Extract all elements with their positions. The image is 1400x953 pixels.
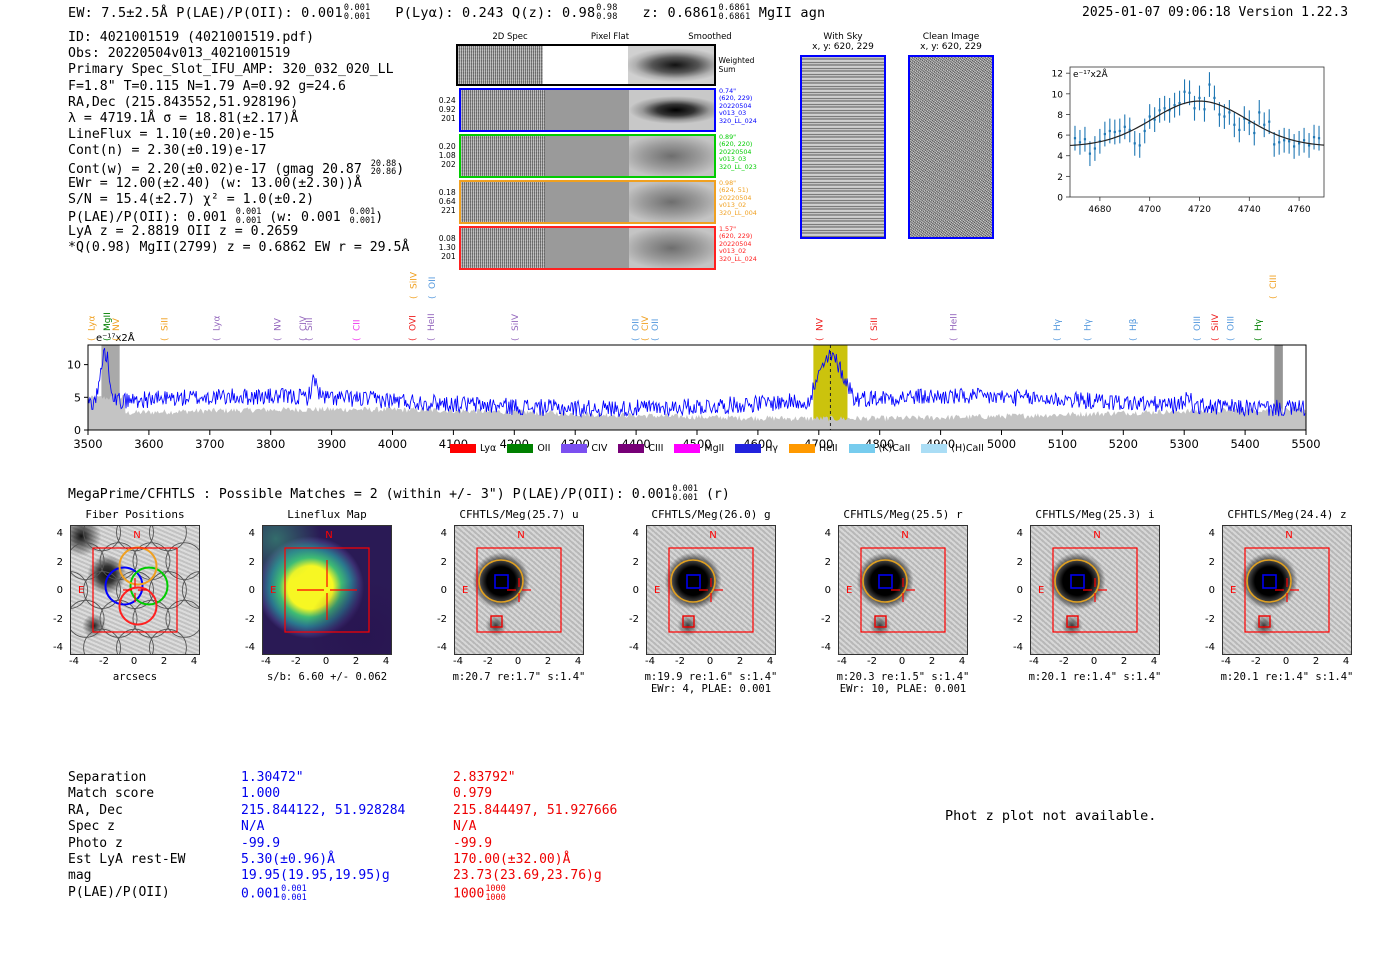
twod-row-left-value: 1.08 xyxy=(430,151,456,160)
svg-text:3800: 3800 xyxy=(256,437,285,451)
legend-swatch xyxy=(618,444,644,453)
twod-cell-smoothed xyxy=(629,90,713,130)
match-table-row: Est LyA rest-EW5.30(±0.96)Å170.00(±32.00… xyxy=(68,852,617,868)
cutout-x-tick: -2 xyxy=(1059,656,1069,667)
twod-row-right-value: 320_LL_024 xyxy=(719,256,760,263)
svg-text:(: ( xyxy=(1269,295,1279,299)
twod-col-header-pixelflat: Pixel Flat xyxy=(560,32,660,42)
marker-overlay: NE xyxy=(455,526,583,654)
svg-text:E: E xyxy=(270,585,276,596)
cutout-title: Lineflux Map xyxy=(232,508,422,521)
cutout-image[interactable]: NE xyxy=(646,525,776,655)
cutout-y-axis: 420-2-4 xyxy=(424,527,451,655)
cutout-y-tick: 2 xyxy=(633,557,639,568)
cutout-y-tick: 2 xyxy=(1017,557,1023,568)
svg-text:E: E xyxy=(1230,585,1236,596)
svg-text:N: N xyxy=(1093,530,1100,541)
svg-text:N: N xyxy=(133,530,140,541)
cutout-y-tick: -2 xyxy=(53,614,63,625)
svg-text:N: N xyxy=(901,530,908,541)
svg-text:OII: OII xyxy=(428,277,438,289)
info-line-fwhm: F=1.8" T=0.115 N=1.79 A=0.92 g=24.6 xyxy=(68,79,409,95)
emission-label: CIV( xyxy=(299,315,309,341)
legend-label: CIII xyxy=(648,443,663,454)
svg-text:3600: 3600 xyxy=(134,437,163,451)
header-qz-fraction: 0.980.98 xyxy=(596,4,617,22)
svg-text:12: 12 xyxy=(1052,70,1063,80)
svg-text:(: ( xyxy=(870,337,880,341)
cutout-y-axis: 420-2-4 xyxy=(808,527,835,655)
legend-item: Lyα xyxy=(450,443,496,454)
svg-text:E: E xyxy=(846,585,852,596)
emission-label: OVI( xyxy=(408,315,418,341)
cutout-x-axis: -4-2024 xyxy=(838,655,966,669)
match-row-red-value: 2.83792" xyxy=(453,770,516,786)
svg-text:HeII: HeII xyxy=(427,313,437,331)
twod-row-images xyxy=(459,180,716,224)
info-line-lambda: λ = 4719.1Å σ = 18.81(±2.17)Å xyxy=(68,111,409,127)
cutout-caption-primary: m:20.7 re:1.7" s:1.4" xyxy=(424,671,614,683)
twod-row-right-labels: 0.98"(624, 51)20220504v013_02320_LL_004 xyxy=(716,180,760,224)
cutout-x-tick: -2 xyxy=(99,656,109,667)
svg-text:(: ( xyxy=(1226,337,1236,341)
gmag-fraction: 20.8820.86 xyxy=(371,160,397,178)
info-line-cont-n: Cont(n) = 2.30(±0.19)e-17 xyxy=(68,143,409,159)
cutout-x-tick: 0 xyxy=(1283,656,1289,667)
cutout-panel: CFHTLS/Meg(25.5) rNE420-2-4-4-2024m:20.3… xyxy=(808,508,998,695)
legend-label: (K)CaII xyxy=(879,443,911,454)
svg-text:(: ( xyxy=(1083,337,1093,341)
svg-text:(: ( xyxy=(299,337,309,341)
twod-row: 0.240.922010.74"(620, 229)20220504v013_0… xyxy=(430,88,760,132)
svg-text:OIII: OIII xyxy=(1193,316,1203,331)
cutout-y-tick: 0 xyxy=(57,585,63,596)
cutout-y-tick: 4 xyxy=(249,528,255,539)
cutout-panel: Fiber PositionsNE420-2-4-4-2024arcsecs xyxy=(40,508,230,683)
svg-text:OVI: OVI xyxy=(408,315,418,331)
emission-label: Hγ( xyxy=(1053,318,1063,341)
svg-text:(: ( xyxy=(112,337,122,341)
marker-overlay: NE xyxy=(839,526,967,654)
cutout-panel: CFHTLS/Meg(26.0) gNE420-2-4-4-2024m:19.9… xyxy=(616,508,806,695)
cutout-x-tick: 4 xyxy=(575,656,581,667)
cutout-x-tick: 0 xyxy=(323,656,329,667)
match-row-blue-value: 1.000 xyxy=(241,786,453,802)
cutout-x-tick: 0 xyxy=(899,656,905,667)
svg-text:5500: 5500 xyxy=(1291,437,1320,451)
clean-image-title: Clean Image xyxy=(908,32,994,42)
emission-label: SiII( xyxy=(870,317,880,341)
legend-label: Lyα xyxy=(480,443,496,454)
cutout-y-axis: 420-2-4 xyxy=(1192,527,1219,655)
emission-label: CIII( xyxy=(1269,275,1279,299)
cutout-x-tick: -4 xyxy=(837,656,847,667)
svg-text:(: ( xyxy=(1129,337,1139,341)
cutout-image[interactable]: NE xyxy=(262,525,392,655)
cutout-y-tick: -2 xyxy=(437,614,447,625)
match-row-label: Spec z xyxy=(68,819,241,835)
svg-text:(: ( xyxy=(427,337,437,341)
svg-text:5400: 5400 xyxy=(1230,437,1259,451)
emission-label: OIII( xyxy=(1193,316,1203,341)
svg-text:5200: 5200 xyxy=(1109,437,1138,451)
match-row-label: Photo z xyxy=(68,836,241,852)
legend-item: Hγ xyxy=(735,443,778,454)
match-row-red-value: 23.73(23.69,23.76)g xyxy=(453,868,602,884)
match-row-label: Est LyA rest-EW xyxy=(68,852,241,868)
cutout-y-tick: 2 xyxy=(57,557,63,568)
match-table-row: Separation1.30472"2.83792" xyxy=(68,770,617,786)
legend-label: Hγ xyxy=(765,443,778,454)
cutout-y-tick: -2 xyxy=(1205,614,1215,625)
cutout-x-tick: -4 xyxy=(1221,656,1231,667)
legend-item: OII xyxy=(507,443,550,454)
cutout-x-tick: 2 xyxy=(929,656,935,667)
emission-label: SiIV( xyxy=(1211,313,1221,341)
twod-row-left-value: 0.18 xyxy=(430,188,456,197)
legend-item: CIV xyxy=(561,443,607,454)
emission-label: NV( xyxy=(273,317,283,341)
legend-label: MgII xyxy=(704,443,724,454)
cutout-caption-primary: m:20.1 re:1.4" s:1.4" xyxy=(1000,671,1190,683)
twod-cell-smoothed xyxy=(629,136,713,176)
cutout-image[interactable]: NE xyxy=(1222,525,1352,655)
svg-text:4760: 4760 xyxy=(1288,205,1311,215)
twod-row-left-value: 0.20 xyxy=(430,142,456,151)
match-row-red-value: 100010001000 xyxy=(453,885,506,901)
cutout-title: Fiber Positions xyxy=(40,508,230,521)
twod-col-header-smoothed: Smoothed xyxy=(660,32,760,42)
cutout-x-tick: 2 xyxy=(161,656,167,667)
svg-text:4680: 4680 xyxy=(1088,205,1111,215)
cutout-x-tick: 0 xyxy=(515,656,521,667)
svg-text:(: ( xyxy=(428,295,438,299)
svg-text:Lyα: Lyα xyxy=(212,315,222,331)
cutout-image[interactable]: NE xyxy=(454,525,584,655)
svg-text:N: N xyxy=(517,530,524,541)
cutout-title: CFHTLS/Meg(25.5) r xyxy=(808,508,998,521)
legend-swatch xyxy=(921,444,947,453)
twod-row: 0.081.302011.57"(620, 229)20220504v013_0… xyxy=(430,226,760,270)
twod-cell-smoothed xyxy=(628,46,713,84)
cutout-title: CFHTLS/Meg(25.7) u xyxy=(424,508,614,521)
cutout-y-tick: 4 xyxy=(825,528,831,539)
cutout-x-tick: 2 xyxy=(737,656,743,667)
sky-cutouts: With Sky x, y: 620, 229 Clean Image x, y… xyxy=(800,32,994,239)
match-row-red-value: 0.979 xyxy=(453,786,492,802)
svg-text:CIV: CIV xyxy=(641,315,651,331)
cutout-title: CFHTLS/Meg(26.0) g xyxy=(616,508,806,521)
legend-swatch xyxy=(674,444,700,453)
twod-row-left-value: 0.24 xyxy=(430,96,456,105)
svg-text:6: 6 xyxy=(1057,132,1063,142)
legend-item: HeII xyxy=(789,443,838,454)
emission-label: NV( xyxy=(815,317,825,341)
weighted-sum-label: WeightedSum xyxy=(716,44,760,86)
svg-text:E: E xyxy=(462,585,468,596)
svg-text:CIII: CIII xyxy=(1269,275,1279,289)
cutout-y-axis: 420-2-4 xyxy=(616,527,643,655)
svg-text:3900: 3900 xyxy=(317,437,346,451)
info-line-redshifts: LyA z = 2.8819 OII z = 0.2659 xyxy=(68,224,409,240)
svg-text:5100: 5100 xyxy=(1048,437,1077,451)
emission-label: SiII( xyxy=(161,317,171,341)
twod-row-right-value: 320_LL_023 xyxy=(719,164,760,171)
match-row-red-value: 170.00(±32.00)Å xyxy=(453,852,570,868)
twod-cell-2dspec xyxy=(458,46,543,84)
cutout-y-tick: -4 xyxy=(821,642,831,653)
twod-row-list: 0.240.922010.74"(620, 229)20220504v013_0… xyxy=(430,88,760,270)
svg-text:SiII: SiII xyxy=(870,317,880,331)
match-red-plae-fraction: 10001000 xyxy=(485,885,505,903)
info-line-plae: P(LAE)/P(OII): 0.001 0.0010.001 (w: 0.00… xyxy=(68,208,409,224)
svg-text:(: ( xyxy=(631,337,641,341)
header-z-fraction: 0.68610.6861 xyxy=(719,4,751,22)
svg-text:8: 8 xyxy=(1057,111,1063,121)
svg-text:4000: 4000 xyxy=(378,437,407,451)
cutout-x-axis: -4-2024 xyxy=(70,655,198,669)
cutout-x-axis: -4-2024 xyxy=(454,655,582,669)
cutout-title: CFHTLS/Meg(24.4) z xyxy=(1192,508,1382,521)
cutout-x-tick: 2 xyxy=(545,656,551,667)
twod-row-images xyxy=(459,226,716,270)
match-row-label: Separation xyxy=(68,770,241,786)
twod-row-right-value: 320_LL_004 xyxy=(719,210,760,217)
svg-text:SiIV: SiIV xyxy=(511,313,521,331)
svg-text:10: 10 xyxy=(67,359,81,372)
cutout-x-tick: 4 xyxy=(383,656,389,667)
cutout-caption-primary: m:19.9 re:1.6" s:1.4" xyxy=(616,671,806,683)
match-table-row: mag19.95(19.95,19.95)g23.73(23.69,23.76)… xyxy=(68,868,617,884)
svg-text:SiIV: SiIV xyxy=(410,271,420,289)
match-row-blue-value: 1.30472" xyxy=(241,770,453,786)
match-row-label: Match score xyxy=(68,786,241,802)
twod-cell-2dspec xyxy=(461,182,545,222)
detection-info-block: ID: 4021001519 (4021001519.pdf) Obs: 202… xyxy=(68,30,409,257)
twod-col-header-2dspec: 2D Spec xyxy=(460,32,560,42)
cutout-y-tick: 4 xyxy=(441,528,447,539)
cutout-y-axis: 420-2-4 xyxy=(232,527,259,655)
cutout-y-tick: 0 xyxy=(633,585,639,596)
twod-row-weighted-sum xyxy=(456,44,716,86)
svg-text:(: ( xyxy=(1053,337,1063,341)
svg-text:E: E xyxy=(1038,585,1044,596)
svg-text:NV: NV xyxy=(273,317,283,331)
cutout-image[interactable]: NE xyxy=(838,525,968,655)
cutout-image[interactable]: NE xyxy=(1030,525,1160,655)
cutout-x-tick: -4 xyxy=(1029,656,1039,667)
with-sky-image xyxy=(800,55,886,239)
svg-text:E: E xyxy=(78,585,84,596)
cutout-x-tick: -4 xyxy=(645,656,655,667)
svg-text:(: ( xyxy=(410,295,420,299)
svg-text:5000: 5000 xyxy=(987,437,1016,451)
svg-text:NV: NV xyxy=(815,317,825,331)
cutout-x-tick: 4 xyxy=(959,656,965,667)
cutout-caption-primary: m:20.1 re:1.4" s:1.4" xyxy=(1192,671,1382,683)
cutout-y-tick: 4 xyxy=(1209,528,1215,539)
info-line-cont-w: Cont(w) = 2.20(±0.02)e-17 (gmag 20.87 20… xyxy=(68,160,409,176)
svg-text:(: ( xyxy=(1254,337,1264,341)
megaprime-plae-fraction: 0.0010.001 xyxy=(672,485,698,503)
legend-swatch xyxy=(507,444,533,453)
header-ew-plae: EW: 7.5±2.5Å P(LAE)/P(OII): 0.001 xyxy=(68,5,343,21)
line-profile-svg: 02468101246804700472047404760e⁻¹⁷x2Å xyxy=(1032,57,1332,232)
svg-text:5300: 5300 xyxy=(1170,437,1199,451)
clean-image-subtitle: x, y: 620, 229 xyxy=(908,42,994,52)
cutout-y-tick: 2 xyxy=(249,557,255,568)
cutout-caption-secondary: EWr: 4, PLAE: 0.001 xyxy=(616,683,806,695)
twod-cell-2dspec xyxy=(461,90,545,130)
header-timestamp-version: 2025-01-07 09:06:18 Version 1.22.3 xyxy=(1082,5,1348,20)
twod-cell-2dspec xyxy=(461,136,545,176)
legend-swatch xyxy=(789,444,815,453)
legend-swatch xyxy=(849,444,875,453)
legend-swatch xyxy=(735,444,761,453)
with-sky-subtitle: x, y: 620, 229 xyxy=(800,42,886,52)
twod-row: 0.180.642210.98"(624, 51)20220504v013_02… xyxy=(430,180,760,224)
svg-text:Hβ: Hβ xyxy=(1129,318,1139,331)
svg-text:OII: OII xyxy=(651,319,661,331)
cutout-y-tick: 0 xyxy=(1209,585,1215,596)
emission-label: OII( xyxy=(428,277,438,299)
twod-row-left-labels: 0.180.64221 xyxy=(430,180,459,224)
info-line-radec: RA,Dec (215.843552,51.928196) xyxy=(68,95,409,111)
svg-text:(: ( xyxy=(212,337,222,341)
emission-label: HeII( xyxy=(427,313,437,341)
svg-text:(: ( xyxy=(949,337,959,341)
info-line-ewr: EWr = 12.00(±2.40) (w: 13.00(±2.30))Å xyxy=(68,176,409,192)
match-row-red-value: 215.844497, 51.927666 xyxy=(453,803,617,819)
cutout-y-tick: -4 xyxy=(629,642,639,653)
svg-text:NV: NV xyxy=(112,317,122,331)
megaprime-match-summary: MegaPrime/CFHTLS : Possible Matches = 2 … xyxy=(68,485,730,503)
twod-row-right-labels: 0.74"(620, 229)20220504v013_03320_LL_024 xyxy=(716,88,760,132)
legend-label: (H)CaII xyxy=(951,443,984,454)
svg-text:3500: 3500 xyxy=(73,437,102,451)
cutout-y-tick: -4 xyxy=(437,642,447,653)
cutout-y-tick: -4 xyxy=(1205,642,1215,653)
twod-spec-panel: 2D Spec Pixel Flat Smoothed WeightedSum … xyxy=(430,32,760,270)
cutout-y-tick: 4 xyxy=(57,528,63,539)
svg-text:(: ( xyxy=(161,337,171,341)
cutout-y-tick: 0 xyxy=(249,585,255,596)
cutout-x-tick: 0 xyxy=(1091,656,1097,667)
svg-text:Lyα: Lyα xyxy=(88,315,98,331)
info-plae-fraction: 0.0010.001 xyxy=(236,208,262,226)
cutout-y-tick: 0 xyxy=(441,585,447,596)
legend-item: MgII xyxy=(674,443,724,454)
twod-row-right-labels: 1.57"(620, 229)20220504v013_02320_LL_024 xyxy=(716,226,760,270)
emission-label: OII( xyxy=(651,319,661,341)
twod-cell-smoothed xyxy=(629,182,713,222)
legend-item: (H)CaII xyxy=(921,443,984,454)
cutout-row: Fiber PositionsNE420-2-4-4-2024arcsecsLi… xyxy=(40,508,1380,738)
marker-overlay: NE xyxy=(71,526,199,654)
twod-row-left-labels: 0.201.08202 xyxy=(430,134,459,178)
match-row-blue-value: 215.844122, 51.928284 xyxy=(241,803,453,819)
cutout-x-tick: -2 xyxy=(675,656,685,667)
cutout-x-tick: -2 xyxy=(483,656,493,667)
cutout-y-tick: 0 xyxy=(825,585,831,596)
cutout-x-tick: 4 xyxy=(1151,656,1157,667)
cutout-x-axis: -4-2024 xyxy=(262,655,390,669)
twod-row-left-value: 1.30 xyxy=(430,243,456,252)
svg-text:10: 10 xyxy=(1052,90,1064,100)
cutout-caption-primary: m:20.3 re:1.5" s:1.4" xyxy=(808,671,998,683)
megaprime-filter: (r) xyxy=(706,487,730,502)
svg-text:(: ( xyxy=(815,337,825,341)
twod-cell-pixelflat xyxy=(543,46,628,84)
cutout-image[interactable]: NE xyxy=(70,525,200,655)
twod-row-right-value: 320_LL_024 xyxy=(719,118,760,125)
match-table-row: Match score1.0000.979 xyxy=(68,786,617,802)
cutout-x-tick: -2 xyxy=(1251,656,1261,667)
cutout-x-tick: 2 xyxy=(1313,656,1319,667)
emission-label: SiIV( xyxy=(410,271,420,299)
match-row-blue-value: 19.95(19.95,19.95)g xyxy=(241,868,453,884)
cutout-y-tick: -4 xyxy=(53,642,63,653)
match-row-red-value: -99.9 xyxy=(453,836,492,852)
emission-label: CIV( xyxy=(641,315,651,341)
twod-cell-pixelflat xyxy=(545,90,629,130)
svg-text:e⁻¹⁷x2Å: e⁻¹⁷x2Å xyxy=(1073,68,1109,80)
cutout-x-tick: 2 xyxy=(1121,656,1127,667)
svg-text:(: ( xyxy=(651,337,661,341)
twod-row-left-value: 0.92 xyxy=(430,105,456,114)
cutout-y-tick: -2 xyxy=(821,614,831,625)
line-profile-chart: 02468101246804700472047404760e⁻¹⁷x2Å xyxy=(1032,57,1332,232)
svg-text:0: 0 xyxy=(74,424,81,437)
emission-label: CII( xyxy=(352,319,362,341)
svg-text:(: ( xyxy=(1193,337,1203,341)
legend-swatch xyxy=(561,444,587,453)
twod-row-left-value: 0.64 xyxy=(430,197,456,206)
svg-text:4720: 4720 xyxy=(1188,205,1211,215)
svg-text:(: ( xyxy=(511,337,521,341)
svg-text:3700: 3700 xyxy=(195,437,224,451)
emission-label: Hγ( xyxy=(1254,318,1264,341)
spectrum-legend: LyαOIICIVCIIIMgIIHγHeII(K)CaII(H)CaII xyxy=(450,443,984,454)
twod-row-left-value: 0.08 xyxy=(430,234,456,243)
cutout-x-tick: 2 xyxy=(353,656,359,667)
legend-item: (K)CaII xyxy=(849,443,911,454)
svg-text:N: N xyxy=(709,530,716,541)
legend-label: OII xyxy=(537,443,550,454)
cutout-x-axis: -4-2024 xyxy=(646,655,774,669)
cutout-panel: CFHTLS/Meg(25.7) uNE420-2-4-4-2024m:20.7… xyxy=(424,508,614,683)
cutout-x-tick: 0 xyxy=(707,656,713,667)
info-line-obs: Obs: 20220504v013_4021001519 xyxy=(68,46,409,62)
cutout-y-axis: 420-2-4 xyxy=(40,527,67,655)
twod-cell-pixelflat xyxy=(545,228,629,268)
twod-row-left-value: 202 xyxy=(430,160,456,169)
cutout-y-tick: 0 xyxy=(1017,585,1023,596)
match-table-row: Spec zN/AN/A xyxy=(68,819,617,835)
cutout-x-tick: -2 xyxy=(291,656,301,667)
cutout-y-tick: -2 xyxy=(629,614,639,625)
twod-row-left-value: 201 xyxy=(430,114,456,123)
cutout-x-axis: -4-2024 xyxy=(1030,655,1158,669)
twod-row: 0.201.082020.89"(620, 220)20220504v013_0… xyxy=(430,134,760,178)
svg-text:Hγ: Hγ xyxy=(1053,318,1063,331)
svg-text:N: N xyxy=(1285,530,1292,541)
cutout-x-tick: 4 xyxy=(1343,656,1349,667)
svg-text:4740: 4740 xyxy=(1238,205,1261,215)
cutout-x-tick: 4 xyxy=(767,656,773,667)
svg-text:4700: 4700 xyxy=(1138,205,1161,215)
match-row-blue-value: N/A xyxy=(241,819,453,835)
